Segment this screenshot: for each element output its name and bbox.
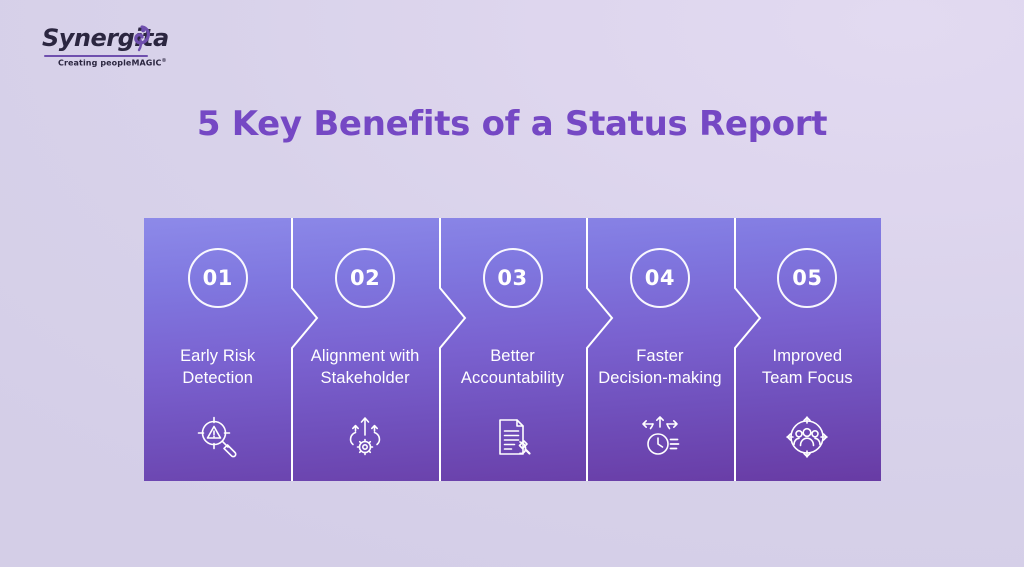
brand-tagline: Creating peopleMAGIC® <box>58 58 167 68</box>
benefit-label-line1: Alignment with <box>295 345 435 367</box>
benefit-card-01[interactable]: 01 Early Risk Detection <box>144 218 291 481</box>
benefit-label-line2: Decision-making <box>590 367 730 389</box>
document-pen-icon <box>488 413 538 461</box>
benefit-number-badge: 01 <box>188 248 248 308</box>
benefit-label-line2: Team Focus <box>737 367 877 389</box>
benefit-card-03[interactable]: 03 Better Accountability <box>439 218 586 481</box>
benefit-label: Early Risk Detection <box>148 345 288 389</box>
benefits-band: 01 Early Risk Detection 02 A <box>144 218 881 481</box>
brand-tagline-text: Creating peopleMAGIC <box>58 59 162 68</box>
benefit-card-02[interactable]: 02 Alignment with Stakeholder <box>291 218 438 481</box>
benefit-number-badge: 02 <box>335 248 395 308</box>
brand-logo: Synergita Creating peopleMAGIC® <box>36 24 186 76</box>
benefit-label: Faster Decision-making <box>590 345 730 389</box>
benefit-label: Improved Team Focus <box>737 345 877 389</box>
benefit-label: Alignment with Stakeholder <box>295 345 435 389</box>
synergita-swirl-icon <box>126 24 152 54</box>
benefit-label-line2: Detection <box>148 367 288 389</box>
brand-rule <box>44 55 148 57</box>
benefit-label-line2: Stakeholder <box>295 367 435 389</box>
brand-trademark: ® <box>162 58 167 64</box>
page-title: 5 Key Benefits of a Status Report <box>0 104 1024 144</box>
benefit-label-line1: Better <box>443 345 583 367</box>
benefit-number-badge: 05 <box>777 248 837 308</box>
benefit-number-badge: 04 <box>630 248 690 308</box>
benefit-label-line2: Accountability <box>443 367 583 389</box>
benefit-label-line1: Faster <box>590 345 730 367</box>
benefit-number: 02 <box>350 266 380 290</box>
risk-magnifier-icon <box>193 413 243 461</box>
benefit-number: 05 <box>792 266 822 290</box>
benefit-label-line1: Early Risk <box>148 345 288 367</box>
gear-arrows-alignment-icon <box>340 413 390 461</box>
team-target-icon <box>782 413 832 461</box>
clock-arrows-icon <box>635 413 685 461</box>
benefit-number: 03 <box>497 266 527 290</box>
benefit-label-line1: Improved <box>737 345 877 367</box>
benefit-card-04[interactable]: 04 Faster Decision-making <box>586 218 733 481</box>
benefit-number-badge: 03 <box>483 248 543 308</box>
benefit-label: Better Accountability <box>443 345 583 389</box>
benefit-number: 04 <box>645 266 675 290</box>
benefit-number: 01 <box>203 266 233 290</box>
benefit-card-05[interactable]: 05 Improved Team Focus <box>734 218 881 481</box>
